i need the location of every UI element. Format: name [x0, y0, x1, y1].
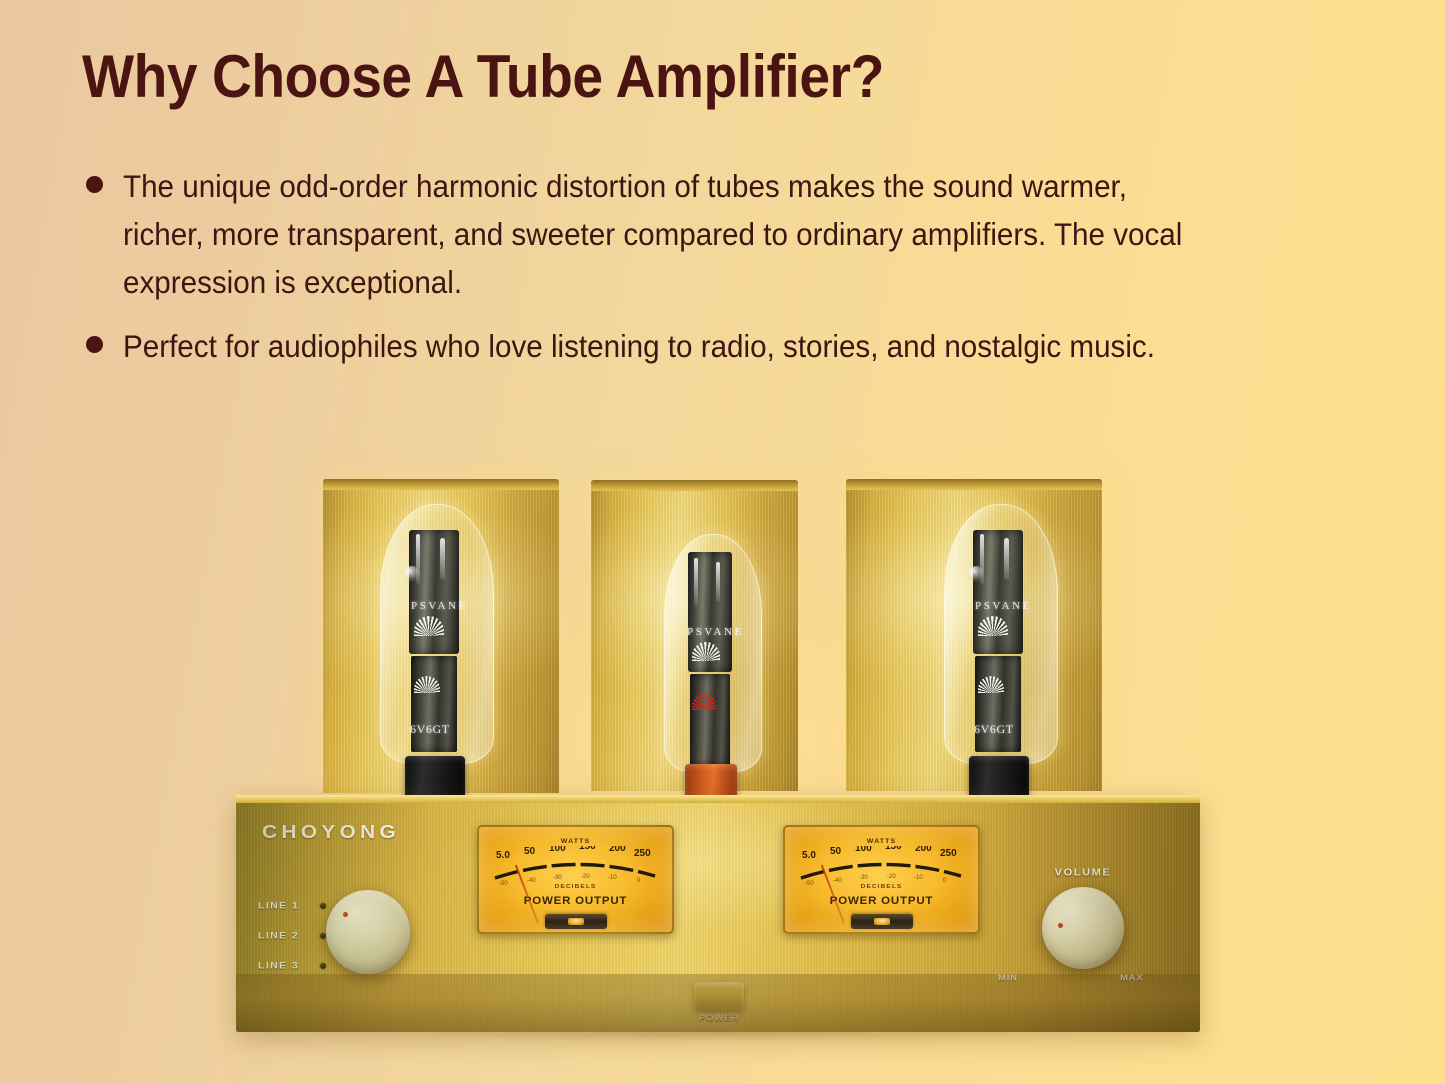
input-selector-row-2[interactable]: LINE 2 [258, 921, 326, 951]
svg-text:-30: -30 [859, 875, 868, 881]
tube-highlight [694, 558, 698, 606]
svg-text:200: 200 [915, 846, 932, 854]
tube-plate-lower [690, 674, 730, 766]
svg-text:-20: -20 [887, 874, 896, 880]
vacuum-tube-right: PSVANE 6V6GT [944, 504, 1056, 804]
vu-pivot-lamp [874, 918, 890, 925]
line-2-label: LINE 2 [258, 931, 314, 942]
volume-label: VOLUME [1033, 868, 1133, 879]
volume-knob[interactable] [1042, 887, 1124, 969]
tube-brand-label: PSVANE [975, 600, 1032, 612]
vu-unit-watts-label: WATTS [785, 839, 978, 845]
tube-amplifier-photo: PSVANE 6V6GT PSVANE PSVANE [228, 468, 1218, 1048]
vu-caption-label: POWER OUTPUT [785, 895, 978, 906]
cover-top-edge [846, 479, 1102, 490]
bullet-text: The unique odd-order harmonic distortion… [123, 163, 1193, 307]
svg-text:250: 250 [634, 848, 651, 859]
svg-text:50: 50 [524, 846, 536, 857]
slide-canvas: Why Choose A Tube Amplifier? The unique … [0, 0, 1445, 1084]
line-1-led-icon [320, 903, 326, 909]
tube-brand-label: PSVANE [411, 600, 468, 612]
svg-text:-10: -10 [608, 875, 617, 881]
brand-logo: CHOYONG [262, 823, 400, 844]
vu-unit-decibels-label: DECIBELS [479, 884, 672, 890]
cover-top-edge [323, 479, 559, 490]
cover-top-edge [591, 480, 798, 491]
svg-text:5.0: 5.0 [802, 850, 816, 861]
chassis-bottom-band [236, 974, 1200, 1032]
svg-text:5.0: 5.0 [496, 850, 510, 861]
chassis-top-edge [236, 795, 1200, 803]
tube-getter-flash [968, 566, 984, 582]
vu-unit-watts-label: WATTS [479, 839, 672, 845]
list-item: The unique odd-order harmonic distortion… [86, 163, 1261, 307]
bullet-marker-icon [86, 336, 103, 353]
input-selector-labels: LINE 1 LINE 2 LINE 3 [258, 891, 326, 981]
input-selector-row-1[interactable]: LINE 1 [258, 891, 326, 921]
svg-text:50: 50 [830, 846, 842, 857]
tube-plate-lower [411, 656, 457, 752]
svg-text:250: 250 [940, 848, 957, 859]
vu-caption-label: POWER OUTPUT [479, 895, 672, 906]
vacuum-tube-center: PSVANE [664, 534, 760, 812]
input-selector-knob[interactable] [326, 890, 410, 974]
vu-meter-left: WATTS 5.0 50 100 150 200 250 -50 -40 -30… [477, 825, 674, 934]
tube-brand-label: PSVANE [687, 626, 744, 638]
vu-pivot-housing [851, 914, 913, 929]
svg-text:-10: -10 [914, 875, 923, 881]
svg-text:-30: -30 [553, 875, 562, 881]
line-3-label: LINE 3 [258, 961, 314, 972]
vu-pivot-housing [545, 914, 607, 929]
tube-highlight [1004, 538, 1009, 580]
line-3-led-icon [320, 963, 326, 969]
tube-model-label: 6V6GT [410, 722, 450, 737]
vu-meter-right: WATTS 5.0 50 100 150 200 250 -50 -40 -30… [783, 825, 980, 934]
line-1-label: LINE 1 [258, 901, 314, 912]
tube-model-label: 6V6GT [974, 722, 1014, 737]
bullet-text: Perfect for audiophiles who love listeni… [123, 323, 1193, 371]
selector-knob-indicator-dot [343, 912, 348, 917]
page-title: Why Choose A Tube Amplifier? [82, 44, 884, 110]
svg-text:150: 150 [579, 846, 596, 852]
svg-text:200: 200 [609, 846, 626, 854]
list-item: Perfect for audiophiles who love listeni… [86, 323, 1261, 371]
svg-text:100: 100 [855, 846, 872, 854]
tube-getter-flash [404, 566, 420, 582]
svg-text:100: 100 [549, 846, 566, 854]
volume-knob-indicator-dot [1058, 923, 1063, 928]
svg-text:150: 150 [885, 846, 902, 852]
vacuum-tube-left: PSVANE 6V6GT [380, 504, 492, 804]
svg-text:-20: -20 [581, 874, 590, 880]
amplifier-chassis: CHOYONG LINE 1 LINE 2 LINE 3 [236, 795, 1200, 1032]
tube-highlight [716, 562, 720, 602]
vu-pivot-lamp [568, 918, 584, 925]
bullet-marker-icon [86, 176, 103, 193]
tube-plate-lower [975, 656, 1021, 752]
bullet-list: The unique odd-order harmonic distortion… [86, 163, 1261, 387]
vu-unit-decibels-label: DECIBELS [785, 884, 978, 890]
tube-highlight [440, 538, 445, 580]
